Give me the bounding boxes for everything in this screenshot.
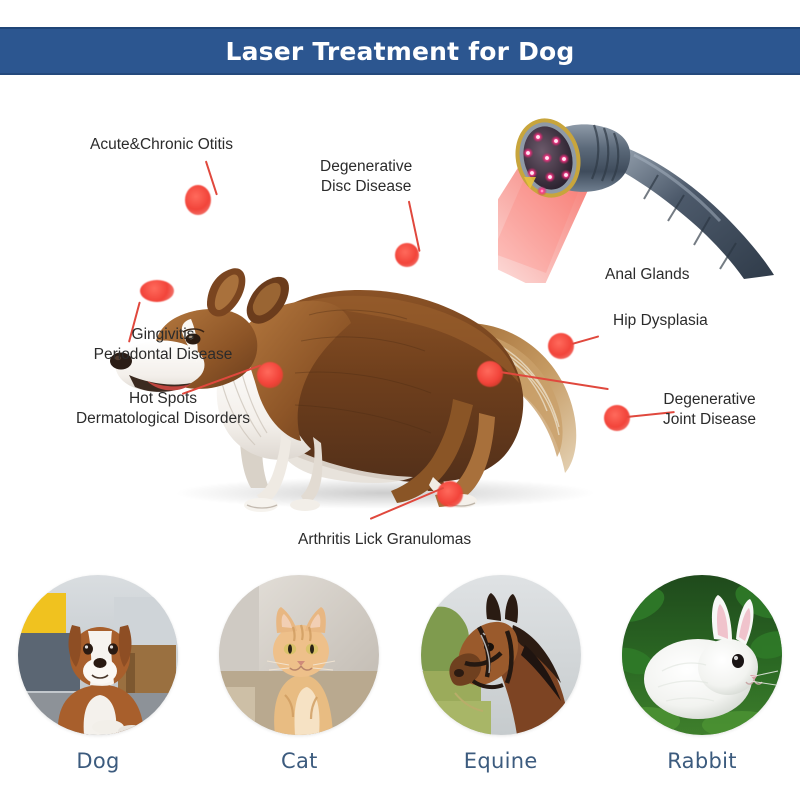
callout-line: Hip Dysplasia xyxy=(613,311,708,331)
marker-disc-disease xyxy=(395,243,419,267)
callout-gingivitis-periodontal: Gingivitis Periodontal Disease xyxy=(58,325,268,365)
laser-device xyxy=(498,103,798,283)
species-item-rabbit[interactable]: Rabbit xyxy=(622,575,782,773)
marker-gingivitis xyxy=(140,280,174,302)
marker-joint-disease xyxy=(604,405,630,431)
marker-arthritis xyxy=(437,481,463,507)
callout-acute-chronic-otitis: Acute&Chronic Otitis xyxy=(90,135,233,155)
species-item-dog[interactable]: Dog xyxy=(18,575,178,773)
callout-line: Dermatological Disorders xyxy=(58,409,268,429)
marker-otitis xyxy=(185,185,211,215)
species-item-equine[interactable]: Equine xyxy=(421,575,581,773)
callout-line: Degenerative xyxy=(320,157,412,177)
callout-anal-glands: Anal Glands xyxy=(605,265,689,285)
laser-treatment-infographic: Laser Treatment for Dog xyxy=(0,0,800,800)
callout-arthritis-lick-granulomas: Arthritis Lick Granulomas xyxy=(298,530,471,550)
dog-photo[interactable] xyxy=(18,575,178,735)
callout-line: Arthritis Lick Granulomas xyxy=(298,530,471,550)
rabbit-photo[interactable] xyxy=(622,575,782,735)
callout-line: Joint Disease xyxy=(663,410,756,430)
header-bar: Laser Treatment for Dog xyxy=(0,27,800,75)
callout-line: Hot Spots xyxy=(58,389,268,409)
callout-line: Degenerative xyxy=(663,390,756,410)
cat-photo[interactable] xyxy=(219,575,379,735)
callout-line: Acute&Chronic Otitis xyxy=(90,135,233,155)
callout-degenerative-joint-disease: Degenerative Joint Disease xyxy=(663,390,756,430)
callout-line: Anal Glands xyxy=(605,265,689,285)
callout-hip-dysplasia: Hip Dysplasia xyxy=(613,311,708,331)
diagram-stage: Acute&Chronic Otitis Degenerative Disc D… xyxy=(0,75,800,570)
marker-anal-glands xyxy=(548,333,574,359)
species-item-cat[interactable]: Cat xyxy=(219,575,379,773)
species-label-cat: Cat xyxy=(281,749,318,773)
callout-degenerative-disc-disease: Degenerative Disc Disease xyxy=(320,157,412,197)
marker-hip-dysplasia xyxy=(477,361,503,387)
equine-photo[interactable] xyxy=(421,575,581,735)
callout-line: Periodontal Disease xyxy=(58,345,268,365)
callout-line: Disc Disease xyxy=(320,177,412,197)
species-label-dog: Dog xyxy=(76,749,119,773)
callout-line: Gingivitis xyxy=(58,325,268,345)
page-title: Laser Treatment for Dog xyxy=(225,37,574,66)
species-label-rabbit: Rabbit xyxy=(667,749,737,773)
species-strip: Dog xyxy=(0,575,800,800)
callout-hot-spots-dermatological: Hot Spots Dermatological Disorders xyxy=(58,389,268,429)
species-label-equine: Equine xyxy=(464,749,538,773)
